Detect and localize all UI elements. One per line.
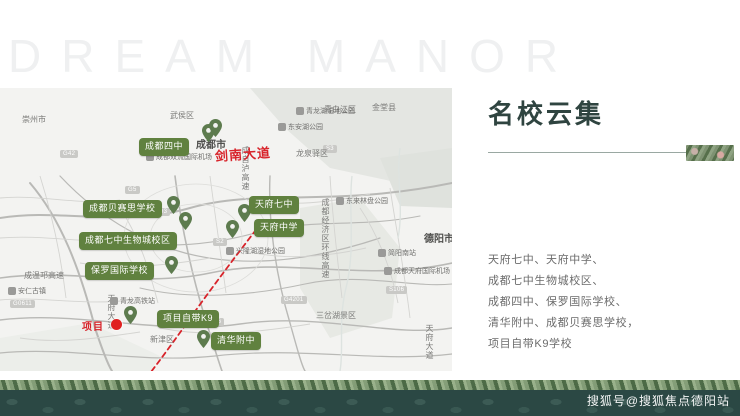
- map-district-label: 金堂县: [372, 102, 396, 113]
- map-pin-k9-school[interactable]: [124, 306, 137, 324]
- list-item: 成都七中生物城校区、: [488, 271, 718, 292]
- map-district-label: 新津区: [150, 334, 174, 345]
- poi-marker-icon: [110, 297, 118, 305]
- map-poi-badge: 简阳南站: [378, 248, 416, 258]
- sohu-watermark: 搜狐号@搜狐焦点德阳站: [587, 392, 730, 409]
- poi-marker-icon: [278, 123, 286, 131]
- bottom-decorative-band: 搜狐号@搜狐焦点德阳站: [0, 380, 740, 416]
- list-item: 天府七中、天府中学、: [488, 250, 718, 271]
- map-poi-badge: 青龙湖湿地公园: [296, 106, 355, 116]
- map-poi-badge: 青龙高铁站: [110, 296, 155, 306]
- poi-marker-icon: [226, 247, 234, 255]
- map-district-label: 龙泉驿区: [296, 148, 328, 159]
- poi-label-chengdu-beisisi-school[interactable]: 成都贝赛思学校: [83, 200, 162, 218]
- title-divider: [488, 152, 686, 153]
- list-item: 成都四中、保罗国际学校、: [488, 292, 718, 313]
- map-poi-badge: 东来林盘公园: [336, 196, 388, 206]
- road-shield: G4201: [281, 296, 307, 304]
- poi-marker-icon: [296, 107, 304, 115]
- map-pin-qinghua-fuzhong[interactable]: [197, 330, 210, 348]
- map-pin-baoluo[interactable]: [165, 256, 178, 274]
- map-pin-qizhong-shengwucheng[interactable]: [179, 212, 192, 230]
- map-road-name: 成温邛高速: [24, 270, 64, 281]
- road-shield: S2: [213, 238, 227, 246]
- poi-marker-icon: [336, 197, 344, 205]
- poi-label-tianfu-zhongxue[interactable]: 天府中学: [254, 219, 304, 237]
- poi-label-project-k9[interactable]: 项目自带K9: [157, 310, 219, 328]
- map-poi-label: 三岔湖景区: [316, 310, 356, 321]
- poi-label-baoluo-international[interactable]: 保罗国际学校: [85, 262, 154, 280]
- map-district-label: 武侯区: [170, 110, 194, 121]
- road-shield: G0611: [10, 300, 35, 308]
- map-panel[interactable]: G42 G93 S2 G5 S3 G76 G4201 S106 G0611 成都…: [0, 88, 452, 371]
- poi-label-qizhong-shengwucheng[interactable]: 成都七中生物城校区: [79, 232, 177, 250]
- decorative-foliage-swatch: [686, 145, 734, 161]
- poi-marker-icon: [378, 249, 386, 257]
- list-item: 清华附中、成都贝赛思学校，: [488, 313, 718, 334]
- map-road-name: 成都经济区环线高速: [320, 198, 331, 279]
- road-shield: G42: [60, 150, 78, 158]
- map-city-label: 崇州市: [22, 114, 46, 125]
- map-city-label: 德阳市: [424, 230, 452, 245]
- poi-label-qinghua-fuzhong[interactable]: 清华附中: [211, 332, 261, 350]
- map-poi-badge: 成都天府国际机场: [384, 266, 450, 276]
- project-label: 项目: [82, 318, 104, 333]
- map-pin-tianfu-zhongxue[interactable]: [226, 220, 239, 238]
- poi-marker-icon: [384, 267, 392, 275]
- poi-label-tianfu-qizhong[interactable]: 天府七中: [249, 196, 299, 214]
- poi-label-chengdu-si-zhong[interactable]: 成都四中: [139, 138, 189, 156]
- map-road-name: 天府大道: [424, 324, 435, 360]
- project-location-marker[interactable]: [111, 319, 122, 330]
- map-poi-badge: 安仁古镇: [8, 286, 46, 296]
- road-shield: S106: [386, 286, 407, 294]
- poi-marker-icon: [8, 287, 16, 295]
- list-item: 项目自带K9学校: [488, 334, 718, 355]
- page-title: 名校云集: [488, 100, 604, 129]
- map-poi-badge: 东安湖公园: [278, 122, 323, 132]
- dream-manor-watermark-headline: DREAM MANOR: [8, 30, 568, 82]
- school-list: 天府七中、天府中学、 成都七中生物城校区、 成都四中、保罗国际学校、 清华附中、…: [488, 250, 718, 355]
- road-shield: G5: [125, 186, 140, 194]
- map-pin-chengdu-si-zhong[interactable]: [209, 119, 222, 137]
- main-road-label: 剑南大道: [214, 142, 271, 165]
- map-poi-badge: 兴隆湖湿地公园: [226, 246, 285, 256]
